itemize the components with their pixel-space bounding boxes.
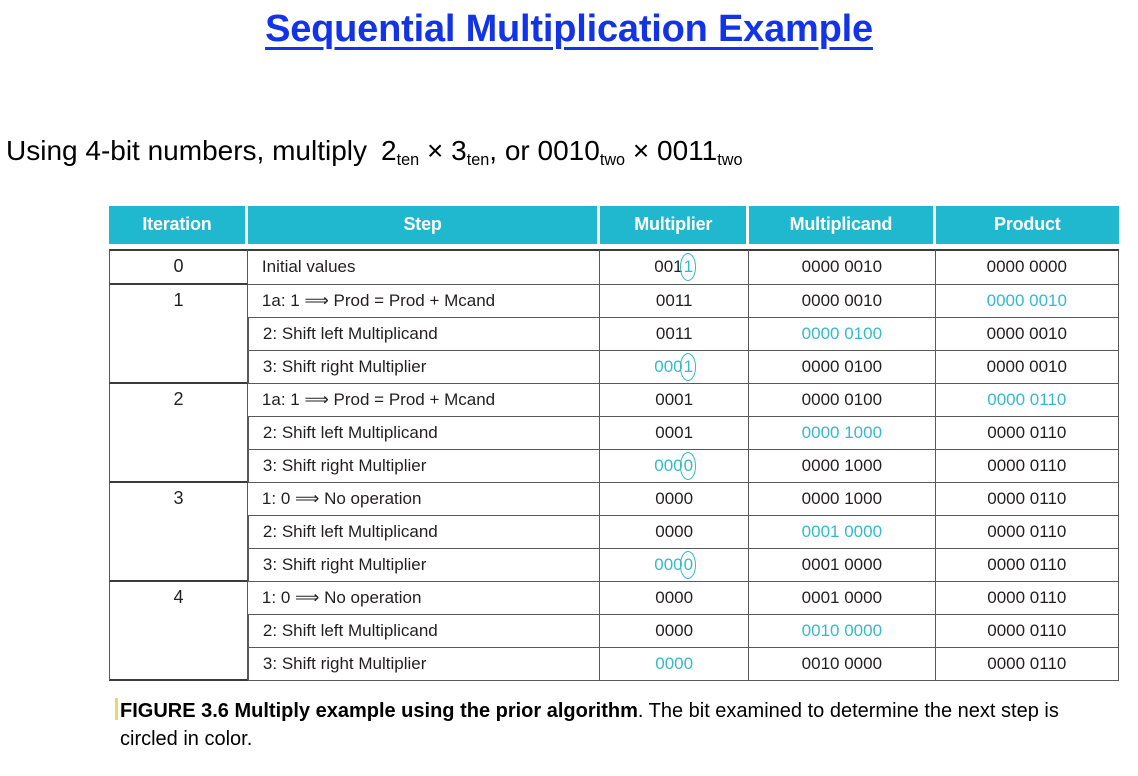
multiplicand-value: 0000 1000 <box>749 450 935 483</box>
iteration-number: 1 <box>109 285 248 384</box>
step-description: 2: Shift left Multiplicand <box>248 516 600 549</box>
table-header: Iteration Step Multiplier Multiplicand P… <box>109 206 1119 249</box>
circled-bit: 0 <box>683 456 694 476</box>
table-row: 0Initial values00110000 00100000 0000 <box>109 249 1119 285</box>
multiplicand-value: 0000 1000 <box>749 483 935 516</box>
binary-value: 0000 0000 <box>987 257 1067 276</box>
times-symbol-1: × <box>427 135 443 166</box>
multiplier-value: 0000 <box>600 450 749 483</box>
product-value: 0000 0110 <box>936 549 1119 582</box>
comma-or: , or <box>489 135 529 166</box>
table-row: 3: Shift right Multiplier00000001 000000… <box>109 549 1119 582</box>
binary-value: 0000 0110 <box>987 654 1066 673</box>
multiplicand-value: 0000 0100 <box>749 351 935 384</box>
table-row: 11a: 1 ⟹ Prod = Prod + Mcand00110000 001… <box>109 285 1119 318</box>
step-description: 1: 0 ⟹ No operation <box>248 483 600 516</box>
step-description: 3: Shift right Multiplier <box>248 549 600 582</box>
product-value: 0000 0110 <box>936 483 1119 516</box>
binary-plain-digits: 0000 <box>655 588 693 607</box>
step-description: 1: 0 ⟹ No operation <box>248 582 600 615</box>
page-title: Sequential Multiplication Example <box>0 8 1138 51</box>
binary-value: 0010 0000 <box>802 621 882 640</box>
iteration-number: 4 <box>109 582 248 681</box>
multiplicand-value: 0000 0100 <box>749 384 935 417</box>
binary-value: 0000 0110 <box>987 423 1066 442</box>
multiplicand-value: 0000 1000 <box>749 417 935 450</box>
binary-value: 0001 0000 <box>802 588 882 607</box>
iteration-number: 0 <box>109 249 248 285</box>
table-row: 3: Shift right Multiplier00000000 100000… <box>109 450 1119 483</box>
multiplier-value: 0000 <box>600 615 749 648</box>
multiplicand-value: 0001 0000 <box>749 549 935 582</box>
multiplicand-value: 0010 0000 <box>749 615 935 648</box>
binary-plain-digits: 0011 <box>656 324 693 343</box>
step-description: 1a: 1 ⟹ Prod = Prod + Mcand <box>248 384 600 417</box>
binary-value: 0000 <box>654 456 694 475</box>
table-row: 2: Shift left Multiplicand00000010 00000… <box>109 615 1119 648</box>
binary-value: 0000 <box>655 522 693 541</box>
binary-value: 0000 1000 <box>802 423 882 442</box>
step-description: 1a: 1 ⟹ Prod = Prod + Mcand <box>248 285 600 318</box>
multiplicand-value: 0010 0000 <box>749 648 935 681</box>
multiplier-value: 0011 <box>600 249 749 285</box>
binary-value: 0011 <box>654 257 694 276</box>
step-description: 3: Shift right Multiplier <box>248 648 600 681</box>
binary-value: 0000 0110 <box>987 489 1066 508</box>
binary-plain-digits: 0011 <box>656 291 693 310</box>
multiply-trace-table: Iteration Step Multiplier Multiplicand P… <box>109 206 1119 681</box>
binary-plain-digits: 0001 <box>655 390 693 409</box>
multiplier-value: 0011 <box>600 318 749 351</box>
table-row: 3: Shift right Multiplier00000010 000000… <box>109 648 1119 681</box>
binary-value: 0001 <box>655 390 693 409</box>
multiplier-value: 0011 <box>600 285 749 318</box>
binary-value: 0011 <box>656 291 693 310</box>
multiplicand-value: 0000 0010 <box>749 249 935 285</box>
binary-value: 0000 0100 <box>802 390 882 409</box>
operand-b: 3ten <box>451 135 489 166</box>
multiplicand-value: 0000 0100 <box>749 318 935 351</box>
multiplier-value: 0000 <box>600 582 749 615</box>
circled-bit: 1 <box>683 357 694 377</box>
binary-value: 0001 <box>654 357 694 376</box>
problem-statement: Using 4-bit numbers, multiply2ten × 3ten… <box>6 135 742 167</box>
binary-value: 0000 <box>655 489 693 508</box>
operand-d: 0011two <box>657 135 742 166</box>
binary-plain-digits: 000 <box>654 555 682 574</box>
step-description: 2: Shift left Multiplicand <box>248 318 600 351</box>
multiplicand-value: 0001 0000 <box>749 582 935 615</box>
binary-value: 0011 <box>656 324 693 343</box>
column-header-multiplier: Multiplier <box>600 206 749 249</box>
column-header-step: Step <box>248 206 600 249</box>
binary-value: 0000 0110 <box>987 456 1066 475</box>
binary-value: 0000 0010 <box>987 291 1067 310</box>
binary-plain-digits: 001 <box>654 257 682 276</box>
binary-value: 0000 0010 <box>802 257 882 276</box>
table-row: 2: Shift left Multiplicand00010000 10000… <box>109 417 1119 450</box>
binary-value: 0000 0110 <box>987 555 1066 574</box>
binary-value: 0000 0010 <box>802 291 882 310</box>
binary-value: 0000 1000 <box>802 456 882 475</box>
binary-plain-digits: 0001 <box>655 423 693 442</box>
multiplicand-value: 0000 0010 <box>749 285 935 318</box>
iteration-number: 3 <box>109 483 248 582</box>
binary-value: 0000 0110 <box>987 390 1066 409</box>
multiplier-value: 0000 <box>600 483 749 516</box>
multiplier-value: 0001 <box>600 384 749 417</box>
binary-plain-digits: 000 <box>654 456 682 475</box>
multiplier-value: 0001 <box>600 417 749 450</box>
step-description: Initial values <box>248 249 600 285</box>
binary-value: 0001 0000 <box>802 522 882 541</box>
step-description: 2: Shift left Multiplicand <box>248 417 600 450</box>
table-body: 0Initial values00110000 00100000 000011a… <box>109 249 1119 681</box>
product-value: 0000 0110 <box>936 450 1119 483</box>
binary-value: 0000 <box>655 588 693 607</box>
binary-value: 0000 <box>655 621 693 640</box>
step-description: 3: Shift right Multiplier <box>248 351 600 384</box>
binary-value: 0000 0100 <box>802 357 882 376</box>
column-header-multiplicand: Multiplicand <box>749 206 935 249</box>
binary-value: 0000 0110 <box>987 522 1066 541</box>
times-symbol-2: × <box>633 135 649 166</box>
table-row: 2: Shift left Multiplicand00000001 00000… <box>109 516 1119 549</box>
table-header-row: Iteration Step Multiplier Multiplicand P… <box>109 206 1119 249</box>
binary-value: 0000 1000 <box>802 489 882 508</box>
binary-plain-digits: 0000 <box>655 489 693 508</box>
problem-lead: Using 4-bit numbers, multiply <box>6 135 367 166</box>
figure-caption: FIGURE 3.6 Multiply example using the pr… <box>120 697 1070 754</box>
multiplier-value: 0000 <box>600 648 749 681</box>
product-value: 0000 0000 <box>936 249 1119 285</box>
product-value: 0000 0110 <box>936 615 1119 648</box>
binary-value: 0001 0000 <box>802 555 882 574</box>
column-header-product: Product <box>936 206 1119 249</box>
binary-value: 0010 0000 <box>802 654 882 673</box>
product-value: 0000 0110 <box>936 417 1119 450</box>
operand-a: 2ten <box>381 135 419 166</box>
page-title-text: Sequential Multiplication Example <box>265 8 873 50</box>
binary-value: 0000 0110 <box>987 588 1066 607</box>
figure-caption-bold: FIGURE 3.6 Multiply example using the pr… <box>120 700 638 722</box>
binary-value: 0001 <box>655 423 693 442</box>
text-caret-mark <box>115 698 118 720</box>
table-row: 41: 0 ⟹ No operation00000001 00000000 01… <box>109 582 1119 615</box>
table-row: 21a: 1 ⟹ Prod = Prod + Mcand00010000 010… <box>109 384 1119 417</box>
binary-value: 0000 <box>654 555 694 574</box>
product-value: 0000 0010 <box>936 351 1119 384</box>
circled-bit: 1 <box>683 257 694 277</box>
product-value: 0000 0010 <box>936 318 1119 351</box>
multiplicand-value: 0001 0000 <box>749 516 935 549</box>
binary-value: 0000 0010 <box>987 324 1067 343</box>
binary-value: 0000 0010 <box>987 357 1067 376</box>
binary-plain-digits: 0000 <box>655 621 693 640</box>
table-row: 31: 0 ⟹ No operation00000000 10000000 01… <box>109 483 1119 516</box>
product-value: 0000 0110 <box>936 582 1119 615</box>
product-value: 0000 0110 <box>936 516 1119 549</box>
table-row: 2: Shift left Multiplicand00110000 01000… <box>109 318 1119 351</box>
iteration-number: 2 <box>109 384 248 483</box>
binary-value: 0000 0110 <box>987 621 1066 640</box>
binary-plain-digits: 0000 <box>655 522 693 541</box>
step-description: 2: Shift left Multiplicand <box>248 615 600 648</box>
product-value: 0000 0010 <box>936 285 1119 318</box>
product-value: 0000 0110 <box>936 384 1119 417</box>
step-description: 3: Shift right Multiplier <box>248 450 600 483</box>
binary-plain-digits: 000 <box>654 357 682 376</box>
table-row: 3: Shift right Multiplier00010000 010000… <box>109 351 1119 384</box>
operand-c: 0010two <box>538 135 626 166</box>
binary-value: 0000 0100 <box>802 324 882 343</box>
binary-value: 0000 <box>655 654 693 673</box>
column-header-iteration: Iteration <box>109 206 248 249</box>
circled-bit: 0 <box>683 555 694 575</box>
multiplier-value: 0001 <box>600 351 749 384</box>
binary-plain-digits: 0000 <box>655 654 693 673</box>
multiplier-value: 0000 <box>600 516 749 549</box>
multiplier-value: 0000 <box>600 549 749 582</box>
product-value: 0000 0110 <box>936 648 1119 681</box>
